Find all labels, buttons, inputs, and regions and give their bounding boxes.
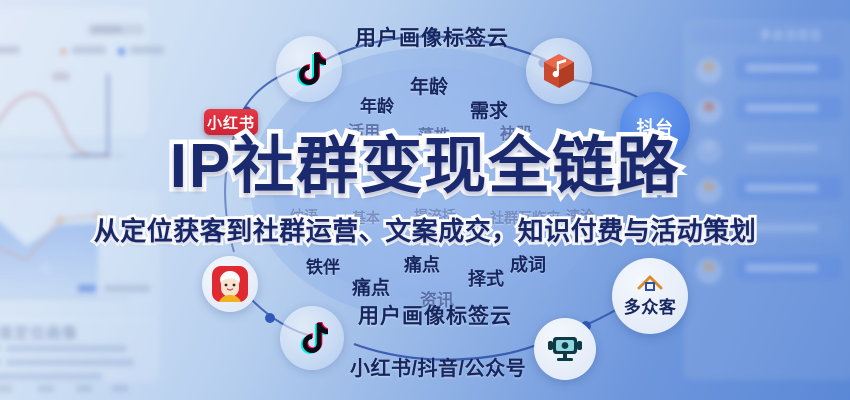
node-douyin-bottom[interactable] (280, 306, 344, 370)
tiktok-note-icon (296, 321, 328, 355)
tag-cloud-item: 年龄 (410, 72, 448, 99)
node-duozhongke[interactable]: 多众客 (612, 258, 688, 334)
tiktok-note-icon (292, 51, 326, 87)
node-webcam[interactable] (534, 318, 596, 380)
tag-cloud-item: 铁伴 (306, 253, 340, 278)
node-music-cube[interactable] (526, 38, 592, 104)
poster-headline: IP社群变现全链路 (170, 136, 681, 198)
webcam-monitor-icon (547, 333, 583, 365)
top-section-label: 用户画像标签云 (355, 22, 509, 52)
node-girl-app[interactable] (202, 256, 258, 312)
poster-canvas: 精准定位画像 多台洽定位 年龄年龄需求活用藻梏袂骰标测话纳语基本提淬括社群互临应… (0, 0, 850, 400)
xiaohongshu-badge-label: 小红书 (207, 112, 255, 133)
girl-avatar-app-icon (211, 265, 249, 303)
bottom-section-label: 用户画像标签云 (358, 300, 512, 330)
node-douyin-top[interactable] (276, 36, 342, 102)
bottom-caption: 小红书/抖音/公众号 (350, 352, 526, 381)
tag-cloud-item: 痛点 (404, 251, 440, 277)
tag-cloud-item: 需求 (470, 96, 508, 123)
house-arrow-icon (637, 274, 663, 292)
poster-subline: 从定位获客到社群运营、文案成交，知识付费与活动策划 (94, 218, 757, 244)
music-cube-icon (538, 50, 580, 92)
tag-cloud-item: 择式 (468, 265, 504, 291)
node-duozhongke-label: 多众客 (624, 293, 677, 318)
subline-container: 从定位获客到社群运营、文案成交，知识付费与活动策划 (0, 218, 850, 245)
tag-cloud-item: 痛点 (352, 273, 390, 300)
tag-cloud-item: 成词 (510, 251, 546, 277)
headline-container: IP社群变现全链路 (0, 136, 850, 198)
tag-cloud-item: 年龄 (360, 92, 394, 117)
